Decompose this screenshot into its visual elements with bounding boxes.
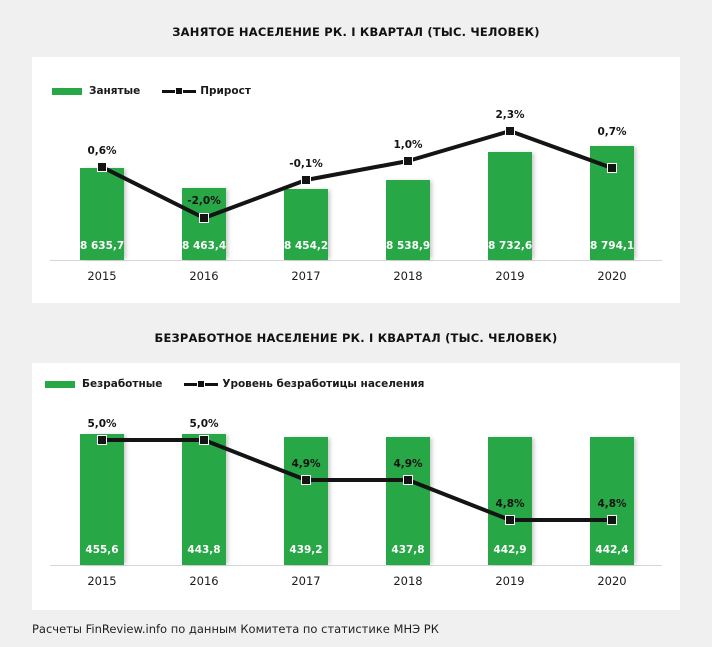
xlabel-2018: 2018 — [393, 574, 422, 588]
marker-2016[interactable] — [199, 213, 209, 223]
marker-2016[interactable] — [199, 435, 209, 445]
xlabel-2016: 2016 — [189, 269, 218, 283]
xlabel-2017: 2017 — [291, 269, 320, 283]
pct-label-2015: 0,6% — [87, 145, 116, 157]
pct-label-2020: 0,7% — [597, 126, 626, 138]
xlabel-2019: 2019 — [495, 269, 524, 283]
pct-label-2018: 4,9% — [393, 458, 422, 470]
marker-2020[interactable] — [607, 515, 617, 525]
pct-label-2019: 4,8% — [495, 498, 524, 510]
marker-2019[interactable] — [505, 515, 515, 525]
pct-label-2019: 2,3% — [495, 109, 524, 121]
marker-2017[interactable] — [301, 175, 311, 185]
xlabel-2017: 2017 — [291, 574, 320, 588]
marker-2017[interactable] — [301, 475, 311, 485]
chart-2-title: БЕЗРАБОТНОЕ НАСЕЛЕНИЕ РК. I КВАРТАЛ (ТЫС… — [0, 331, 712, 345]
pct-label-2017: 4,9% — [291, 458, 320, 470]
marker-2018[interactable] — [403, 475, 413, 485]
chart-1-line-series — [32, 57, 680, 303]
xlabel-2016: 2016 — [189, 574, 218, 588]
xlabel-2018: 2018 — [393, 269, 422, 283]
pct-label-2018: 1,0% — [393, 139, 422, 151]
xlabel-2019: 2019 — [495, 574, 524, 588]
xlabel-2020: 2020 — [597, 269, 626, 283]
pct-label-2015: 5,0% — [87, 418, 116, 430]
xlabel-2020: 2020 — [597, 574, 626, 588]
chart-2-line-series — [32, 363, 680, 610]
chart-1-plot: 8 635,7 8 463,4 8 454,2 8 538,9 8 732,6 … — [32, 57, 680, 303]
marker-2018[interactable] — [403, 156, 413, 166]
marker-2015[interactable] — [97, 162, 107, 172]
xlabel-2015: 2015 — [87, 269, 116, 283]
pct-label-2020: 4,8% — [597, 498, 626, 510]
screenshot-root: ЗАНЯТОЕ НАСЕЛЕНИЕ РК. I КВАРТАЛ (ТЫС. ЧЕ… — [0, 0, 712, 647]
pct-label-2017: -0,1% — [289, 158, 322, 170]
marker-2019[interactable] — [505, 126, 515, 136]
chart-1-title: ЗАНЯТОЕ НАСЕЛЕНИЕ РК. I КВАРТАЛ (ТЫС. ЧЕ… — [0, 25, 712, 39]
xlabel-2015: 2015 — [87, 574, 116, 588]
pct-label-2016: 5,0% — [189, 418, 218, 430]
source-note: Расчеты FinReview.info по данным Комитет… — [32, 622, 439, 636]
pct-label-2016: -2,0% — [187, 195, 220, 207]
chart-2-plot: 455,6 443,8 439,2 437,8 442,9 442,4 5,0%… — [32, 363, 680, 610]
marker-2015[interactable] — [97, 435, 107, 445]
marker-2020[interactable] — [607, 163, 617, 173]
